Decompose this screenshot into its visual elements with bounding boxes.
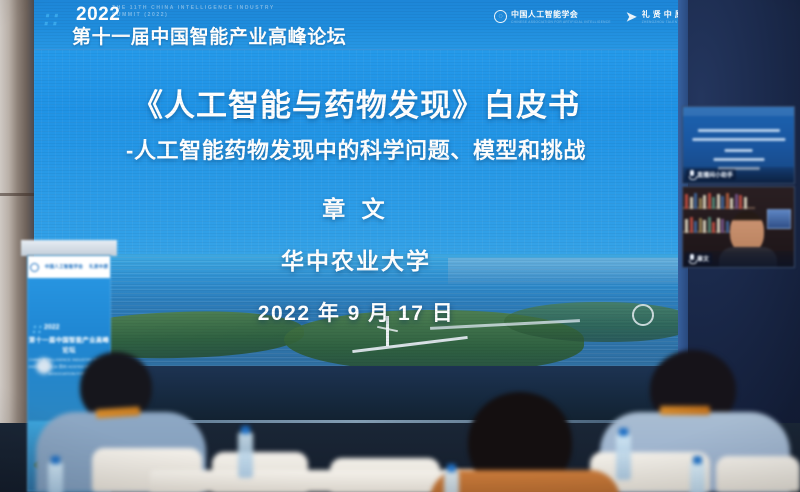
slide-content: 《人工智能与药物发现》白皮书 -人工智能药物发现中的科学问题、模型和挑战 章 文… xyxy=(34,50,678,366)
standee-logo-bar: 中国人工智能学会 礼贤中原 xyxy=(28,256,110,278)
bookshelf-row xyxy=(685,191,753,209)
water-bottle xyxy=(616,434,631,480)
logo-caai-label: 中国人工智能学会 xyxy=(511,9,611,20)
caai-emblem-icon: ◌ xyxy=(494,10,507,23)
panel-name-tag: 章文 xyxy=(686,253,712,264)
mirror-header-band xyxy=(683,107,794,116)
slide-title: 《人工智能与药物发现》白皮书 xyxy=(34,80,678,125)
logo-caai-sub: CHINESE ASSOCIATION FOR ARTIFICIAL INTEL… xyxy=(511,20,611,24)
water-bottle xyxy=(444,470,459,492)
standee-logo-label: 中国人工智能学会 xyxy=(45,264,83,270)
panel-label: 章文 xyxy=(697,254,709,263)
led-screen: ∷ 2022 THE 11TH CHINA INTELLIGENCE INDUS… xyxy=(34,0,678,366)
slide-date: 2022 年 9 月 17 日 xyxy=(34,297,678,327)
caai-emblem-icon xyxy=(30,263,39,272)
speaker-camera-panel[interactable]: 章文 xyxy=(682,186,795,268)
water-bottle xyxy=(238,432,253,478)
microphone-icon xyxy=(689,170,695,179)
panel-name-tag: 直播间小助手 xyxy=(686,169,736,180)
chair xyxy=(716,456,800,492)
header-logo-group: ◌ 中国人工智能学会 CHINESE ASSOCIATION FOR ARTIF… xyxy=(494,9,678,24)
slide-organization: 华中农业大学 xyxy=(34,242,678,276)
logo-caai: ◌ 中国人工智能学会 CHINESE ASSOCIATION FOR ARTIF… xyxy=(494,9,611,24)
slide-header-band: ∷ 2022 THE 11TH CHINA INTELLIGENCE INDUS… xyxy=(34,0,678,50)
logo-partner: ➤ 礼 贤 中 原 ZHENGZHOU TALENT PROGRAM xyxy=(625,9,678,24)
standee-top-bar xyxy=(21,240,117,256)
logo-partner-sub: ZHENGZHOU TALENT PROGRAM xyxy=(642,20,678,24)
header-english-title: THE 11TH CHINA INTELLIGENCE INDUSTRY SUM… xyxy=(112,5,282,18)
standee-title: 第十一届中国智能产业高峰论坛 xyxy=(28,334,110,354)
conference-photo: ∷ 2022 THE 11TH CHINA INTELLIGENCE INDUS… xyxy=(0,0,800,492)
secondary-monitor xyxy=(767,209,791,229)
left-wall-seam xyxy=(0,193,34,196)
lanyard xyxy=(660,406,710,415)
header-chinese-title: 第十一届中国智能产业高峰论坛 xyxy=(72,22,346,49)
shared-screen-panel[interactable]: 直播间小助手 xyxy=(682,106,795,184)
logo-partner-label: 礼 贤 中 原 xyxy=(642,9,678,20)
slide-subtitle: -人工智能药物发现中的科学问题、模型和挑战 xyxy=(34,133,678,165)
slide-speaker-name: 章 文 xyxy=(34,190,678,224)
panel-label: 直播间小助手 xyxy=(697,170,733,179)
water-bottle xyxy=(48,462,63,492)
standee-badge xyxy=(36,358,52,374)
standee-year: 2022 xyxy=(44,324,60,331)
summit-glyph-icon: ∷ xyxy=(41,8,72,38)
microphone-icon xyxy=(689,254,695,263)
water-bottle xyxy=(690,462,705,492)
bird-emblem-icon: ➤ xyxy=(625,10,638,23)
standee-logo-label-2: 礼贤中原 xyxy=(89,264,108,270)
